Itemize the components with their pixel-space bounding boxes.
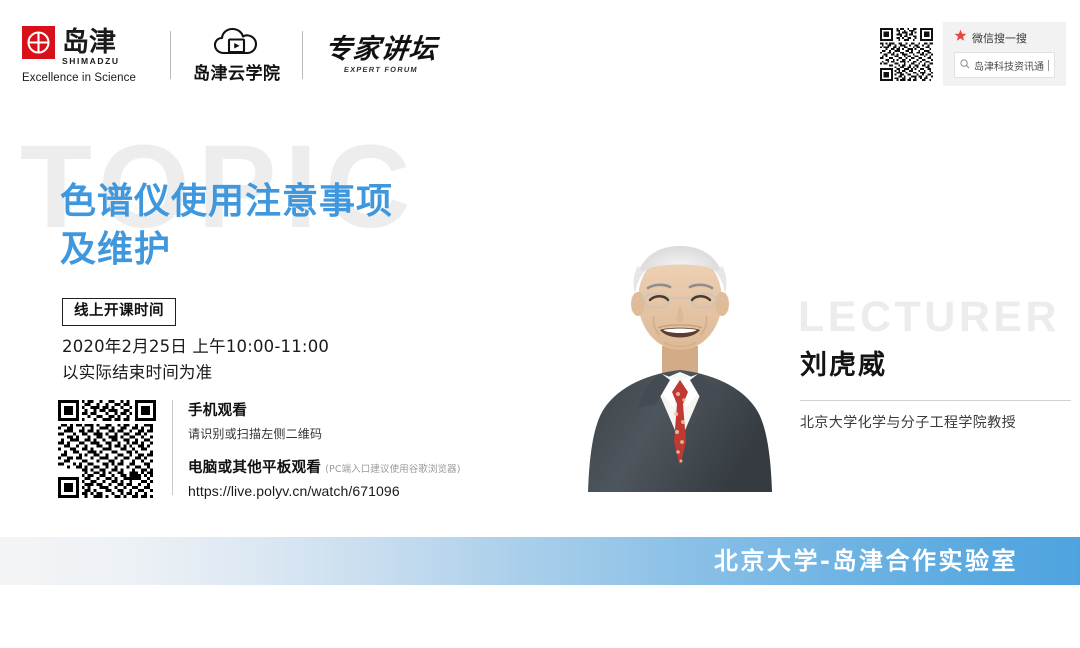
shimadzu-en-name: SHIMADZU <box>62 56 120 66</box>
wechat-qr-code <box>880 28 933 81</box>
header-logo-bar: 岛津 SHIMADZU Excellence in Science 岛津云学院 … <box>22 24 441 86</box>
shimadzu-logo: 岛津 SHIMADZU Excellence in Science <box>22 26 152 84</box>
watch-info: 手机观看 请识别或扫描左侧二维码 电脑或其他平板观看 (PC端入口建议使用谷歌浏… <box>188 402 518 499</box>
cloud-play-icon <box>213 27 261 63</box>
lecturer-divider <box>800 400 1071 401</box>
wechat-search-block: 微信搜一搜 岛津科技资讯通 <box>880 22 1066 86</box>
wechat-panel: 微信搜一搜 岛津科技资讯通 <box>943 22 1066 86</box>
shimadzu-circle-cross-icon <box>22 26 55 59</box>
wechat-brand-row: 微信搜一搜 <box>954 29 1055 47</box>
mobile-watch-heading: 手机观看 <box>188 402 518 421</box>
live-stream-url[interactable]: https://live.polyv.cn/watch/671096 <box>188 483 518 499</box>
pc-watch-group: 电脑或其他平板观看 (PC端入口建议使用谷歌浏览器) https://live.… <box>188 459 518 499</box>
watch-qr-code <box>57 400 157 498</box>
schedule-badge: 线上开课时间 <box>62 298 176 326</box>
wechat-search-star-icon <box>954 29 967 47</box>
mobile-watch-instruction: 请识别或扫描左侧二维码 <box>188 425 518 442</box>
lecturer-name: 刘虎威 <box>800 352 887 379</box>
shimadzu-cn-name: 岛津 <box>62 29 116 56</box>
pc-watch-note: (PC端入口建议使用谷歌浏览器) <box>325 461 460 475</box>
wechat-search-label: 微信搜一搜 <box>972 30 1027 46</box>
schedule-datetime: 2020年2月25日 上午10:00-11:00 <box>62 334 329 360</box>
logo-divider-2 <box>302 31 303 79</box>
page-title: 色谱仪使用注意事项 及维护 <box>60 178 393 274</box>
wechat-search-input[interactable]: 岛津科技资讯通 <box>954 52 1055 78</box>
wechat-search-value: 岛津科技资讯通 <box>974 58 1044 73</box>
lecturer-watermark: LECTURER <box>798 296 1060 339</box>
pc-watch-heading: 电脑或其他平板观看 <box>188 459 321 478</box>
schedule-note: 以实际结束时间为准 <box>62 360 329 386</box>
logo-divider-1 <box>170 31 171 79</box>
expert-forum-en: EXPERT FORUM <box>344 65 419 74</box>
lecturer-portrait <box>578 228 782 492</box>
search-icon <box>960 56 970 74</box>
cloud-academy-name: 岛津云学院 <box>193 65 281 84</box>
footer-banner: 北京大学-岛津合作实验室 <box>0 537 1080 585</box>
cloud-academy-logo: 岛津云学院 <box>189 27 285 84</box>
text-caret <box>1048 60 1049 71</box>
shimadzu-tagline: Excellence in Science <box>22 72 136 84</box>
watch-info-divider <box>172 400 173 495</box>
footer-banner-text: 北京大学-岛津合作实验室 <box>714 549 1018 573</box>
expert-forum-logo: 专家讲坛 EXPERT FORUM <box>321 36 441 74</box>
schedule-details: 2020年2月25日 上午10:00-11:00 以实际结束时间为准 <box>62 334 329 387</box>
lecturer-affiliation: 北京大学化学与分子工程学院教授 <box>800 414 1016 434</box>
webinar-poster: 岛津 SHIMADZU Excellence in Science 岛津云学院 … <box>0 0 1080 648</box>
expert-forum-cn: 专家讲坛 <box>324 36 439 63</box>
